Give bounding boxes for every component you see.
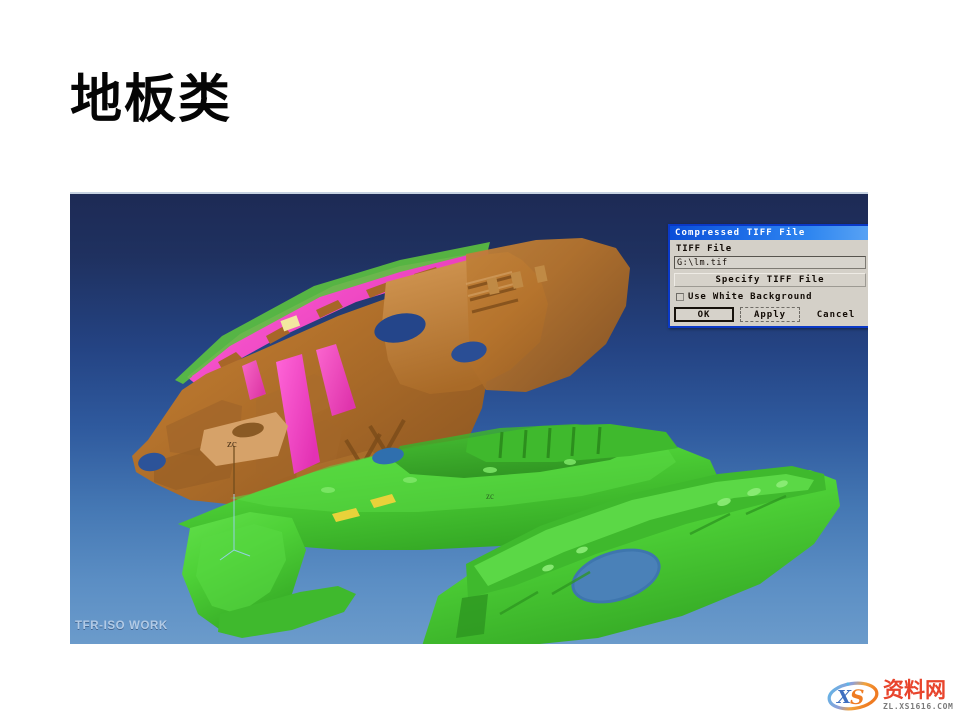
dialog-button-row: OK Apply Cancel (674, 307, 866, 322)
presentation-slide: 地板类 (0, 0, 960, 720)
use-white-background-row[interactable]: Use White Background (674, 292, 866, 302)
cancel-button[interactable]: Cancel (806, 307, 866, 322)
cad-application-screenshot: zc zc TFR-ISO WORK Compressed TIFF File … (70, 192, 868, 644)
model-annotation-zc: zc (227, 438, 237, 450)
use-white-background-checkbox[interactable] (676, 293, 684, 301)
model-annotation-zc-secondary: zc (486, 491, 494, 501)
tiff-file-label: TIFF File (676, 244, 866, 254)
svg-text:S: S (850, 685, 864, 709)
compressed-tiff-file-dialog[interactable]: Compressed TIFF File TIFF File G:\lm.tif… (668, 224, 868, 328)
xs-logo-icon: X S (826, 678, 880, 712)
use-white-background-label: Use White Background (688, 292, 812, 302)
dialog-body: TIFF File G:\lm.tif Specify TIFF File Us… (670, 240, 868, 326)
specify-tiff-file-button[interactable]: Specify TIFF File (674, 273, 866, 287)
dialog-titlebar[interactable]: Compressed TIFF File (670, 226, 868, 240)
apply-button[interactable]: Apply (740, 307, 800, 322)
watermark-site-url: ZL.XS1616.COM (883, 703, 953, 711)
watermark-text-block: 资料网 ZL.XS1616.COM (883, 680, 953, 711)
site-watermark: X S 资料网 ZL.XS1616.COM (826, 676, 954, 714)
tiff-path-input[interactable]: G:\lm.tif (674, 256, 866, 269)
ok-button[interactable]: OK (674, 307, 734, 322)
slide-title: 地板类 (70, 72, 232, 129)
watermark-site-name: 资料网 (883, 680, 953, 701)
dialog-title-text: Compressed TIFF File (675, 228, 805, 238)
app-corner-watermark: TFR-ISO WORK (75, 620, 168, 632)
